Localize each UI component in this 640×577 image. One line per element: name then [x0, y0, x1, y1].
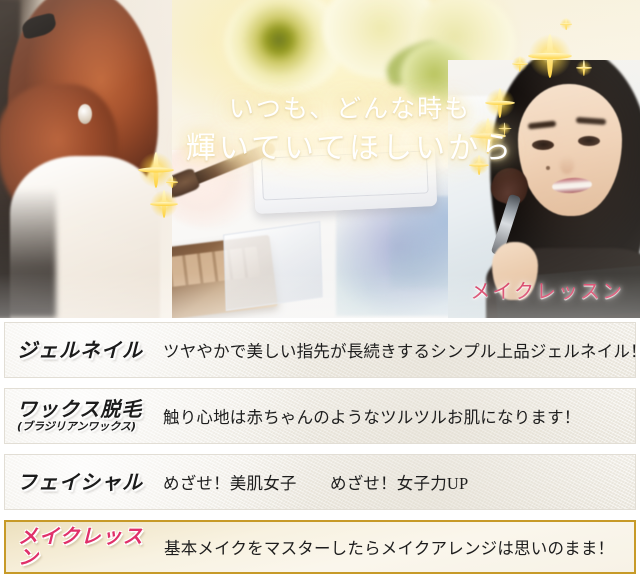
glass-case [223, 221, 323, 311]
foreground-shadow [0, 188, 56, 318]
hero-banner: いつも、どんな時も 輝いていてほしいから メイクレッスン [0, 0, 640, 318]
service-label-main: ジェルネイル [17, 340, 163, 361]
service-label-main: メイクレッスン [18, 526, 164, 568]
service-row-facial[interactable]: フェイシャル めざせ！美肌女子 めざせ！女子力UP [4, 454, 636, 510]
headline-line-2: 輝いていてほしいから [150, 128, 550, 170]
hero-caption-makeup-lesson: メイクレッスン [470, 275, 624, 304]
service-row-wax-hair-removal[interactable]: ワックス脱毛 (ブラジリアンワックス) 触り心地は赤ちゃんのようなツルツルお肌に… [4, 388, 636, 444]
service-description: 触り心地は赤ちゃんのようなツルツルお肌になります！ [163, 404, 635, 428]
sparkle-icon [512, 56, 528, 72]
service-label-main: フェイシャル [17, 472, 163, 493]
service-label: フェイシャル [5, 472, 163, 493]
service-label: ジェルネイル [5, 340, 163, 361]
hero-headline: いつも、どんな時も 輝いていてほしいから [150, 92, 550, 170]
service-description: めざせ！美肌女子 めざせ！女子力UP [163, 470, 635, 494]
service-description: ツヤやかで美しい指先が長続きするシンプル上品ジェルネイル！ [163, 338, 640, 362]
earring [78, 104, 92, 124]
service-list: ジェルネイル ツヤやかで美しい指先が長続きするシンプル上品ジェルネイル！ ワック… [0, 318, 640, 577]
service-label: ワックス脱毛 (ブラジリアンワックス) [5, 399, 163, 433]
eye [578, 136, 600, 146]
sparkle-icon [528, 34, 572, 78]
sparkle-icon [560, 18, 572, 30]
service-description: 基本メイクをマスターしたらメイクアレンジは思いのまま！ [164, 535, 634, 559]
sparkle-icon [576, 60, 592, 76]
headline-line-1: いつも、どんな時も [150, 92, 550, 128]
service-label: メイクレッスン [6, 526, 164, 568]
service-row-makeup-lesson[interactable]: メイクレッスン 基本メイクをマスターしたらメイクアレンジは思いのまま！ [4, 520, 636, 574]
service-row-gel-nail[interactable]: ジェルネイル ツヤやかで美しい指先が長続きするシンプル上品ジェルネイル！ [4, 322, 636, 378]
service-label-main: ワックス脱毛 [17, 399, 163, 420]
nose [560, 156, 574, 174]
service-label-sub: (ブラジリアンワックス) [17, 421, 163, 433]
